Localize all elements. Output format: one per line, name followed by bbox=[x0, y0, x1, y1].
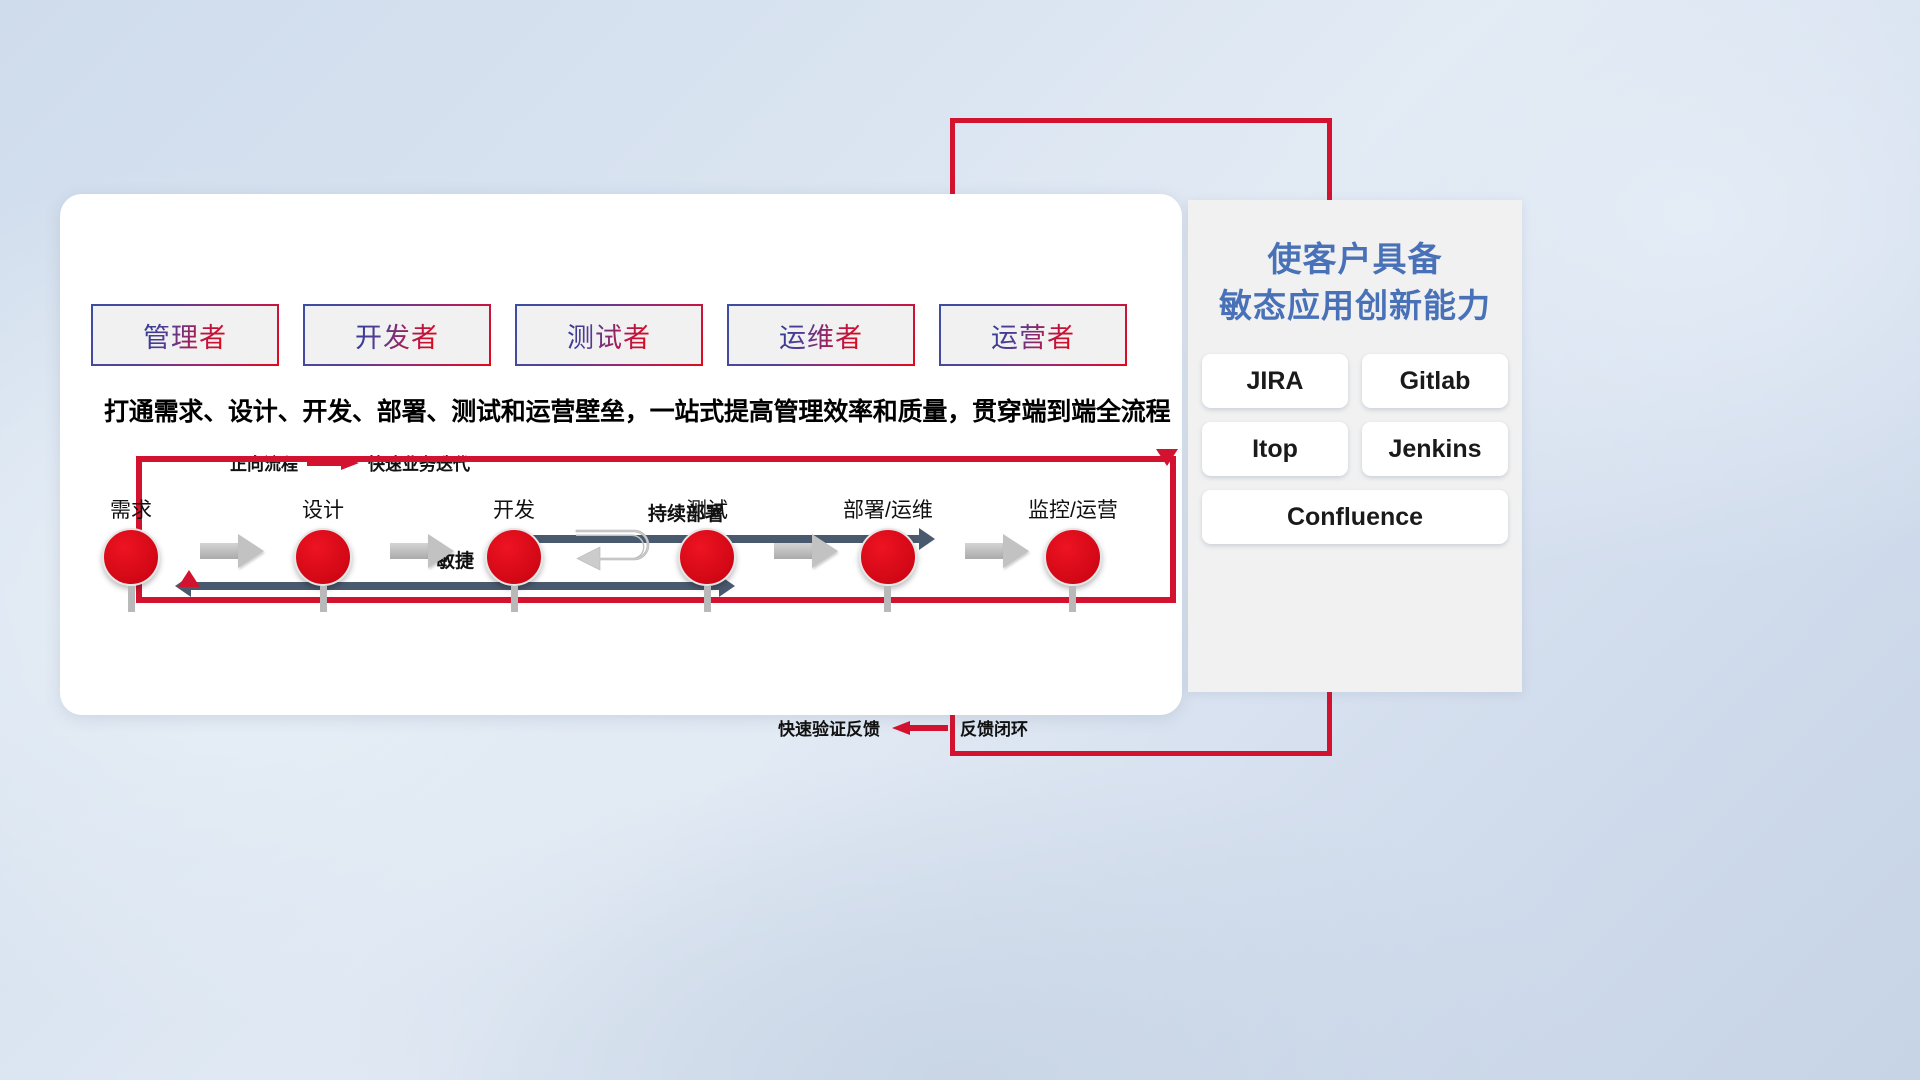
node-dot-icon bbox=[102, 528, 160, 586]
red-bracket-top-left-stub bbox=[950, 118, 955, 198]
role-box-manager[interactable]: 管理者 bbox=[91, 304, 279, 366]
pipeline-node-monitor-operate[interactable]: 监控/运营 bbox=[1028, 494, 1118, 612]
role-label: 测试者 bbox=[567, 316, 651, 355]
node-label: 部署/运维 bbox=[843, 494, 933, 524]
tool-badge-jira[interactable]: JIRA bbox=[1202, 354, 1348, 408]
node-stem bbox=[128, 586, 135, 612]
node-dot-icon bbox=[678, 528, 736, 586]
role-box-ops[interactable]: 运维者 bbox=[727, 304, 915, 366]
red-left-arrow-icon bbox=[892, 721, 948, 734]
pipeline-node-develop[interactable]: 开发 bbox=[485, 494, 543, 612]
node-stem bbox=[704, 586, 711, 612]
pipeline-node-deploy-ops[interactable]: 部署/运维 bbox=[843, 494, 933, 612]
tool-badge-jenkins[interactable]: Jenkins bbox=[1362, 422, 1508, 476]
gray-arrow-icon bbox=[774, 534, 838, 568]
feedback-label: 反馈闭环 bbox=[960, 715, 1028, 740]
panel-headline-line2: 敏态应用创新能力 bbox=[1188, 284, 1522, 329]
tool-badge-gitlab[interactable]: Gitlab bbox=[1362, 354, 1508, 408]
role-label: 运营者 bbox=[991, 316, 1075, 355]
devops-flow-card: 管理者 开发者 测试者 运维者 运营者 打通需求、设计、开发、部署、测试和运营壁… bbox=[60, 194, 1182, 715]
node-label: 设计 bbox=[294, 494, 352, 524]
gray-arrow-icon bbox=[390, 534, 454, 568]
feedback-result: 快速验证反馈 bbox=[778, 715, 880, 740]
tool-badge-grid: JIRA Gitlab Itop Jenkins Confluence bbox=[1188, 354, 1522, 544]
tool-badge-itop[interactable]: Itop bbox=[1202, 422, 1348, 476]
tool-badge-confluence[interactable]: Confluence bbox=[1202, 490, 1508, 544]
node-dot-icon bbox=[859, 528, 917, 586]
pipeline-node-test[interactable]: 测试 bbox=[678, 494, 736, 612]
role-label: 管理者 bbox=[143, 316, 227, 355]
role-box-developer[interactable]: 开发者 bbox=[303, 304, 491, 366]
node-dot-icon bbox=[485, 528, 543, 586]
gray-arrow-icon bbox=[965, 534, 1029, 568]
node-stem bbox=[1069, 586, 1076, 612]
gray-arrow-icon bbox=[200, 534, 264, 568]
role-box-tester[interactable]: 测试者 bbox=[515, 304, 703, 366]
node-dot-icon bbox=[294, 528, 352, 586]
node-label: 监控/运营 bbox=[1028, 494, 1118, 524]
role-box-row: 管理者 开发者 测试者 运维者 运营者 bbox=[91, 304, 1127, 366]
node-stem bbox=[320, 586, 327, 612]
role-label: 开发者 bbox=[355, 316, 439, 355]
iteration-loop-arrow-icon bbox=[572, 526, 658, 574]
node-stem bbox=[884, 586, 891, 612]
description-text: 打通需求、设计、开发、部署、测试和运营壁垒，一站式提高管理效率和质量，贯穿端到端… bbox=[104, 392, 1164, 428]
red-loop-arrow-down-icon bbox=[1156, 449, 1178, 466]
feedback-loop-legend: 快速验证反馈 反馈闭环 bbox=[778, 715, 1028, 740]
node-label: 开发 bbox=[485, 494, 543, 524]
role-box-operator[interactable]: 运营者 bbox=[939, 304, 1127, 366]
node-stem bbox=[511, 586, 518, 612]
node-dot-icon bbox=[1044, 528, 1102, 586]
role-label: 运维者 bbox=[779, 316, 863, 355]
node-label: 需求 bbox=[102, 494, 160, 524]
panel-headline-line1: 使客户具备 bbox=[1188, 238, 1522, 284]
pipeline-node-requirements[interactable]: 需求 bbox=[102, 494, 160, 612]
node-label: 测试 bbox=[678, 494, 736, 524]
pipeline-node-design[interactable]: 设计 bbox=[294, 494, 352, 612]
value-proposition-panel: 使客户具备 敏态应用创新能力 JIRA Gitlab Itop Jenkins … bbox=[1188, 200, 1522, 692]
pipeline: 需求 设计 开发 测试 bbox=[60, 494, 1182, 624]
